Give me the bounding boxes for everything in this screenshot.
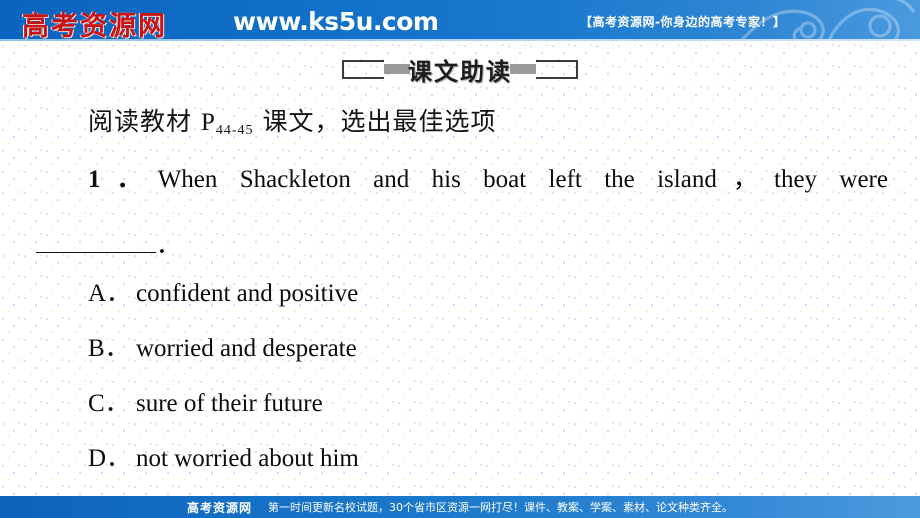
question-text: When Shackleton and his boat left the is… — [158, 166, 888, 193]
option-item-d[interactable]: D．not worried about him — [88, 442, 868, 497]
site-logo-url: www.ks5u.com — [233, 7, 438, 36]
option-label-d: D． — [88, 442, 136, 476]
option-label-c: C． — [88, 387, 136, 421]
section-title-text: 课文助读 — [406, 52, 514, 87]
option-text-a: confident and positive — [136, 280, 358, 307]
section-title-banner: 课文助读 — [0, 50, 920, 88]
option-label-b: B． — [88, 332, 136, 366]
bracket-left-icon — [342, 60, 384, 79]
option-list: A．confident and positive B．worried and d… — [88, 277, 868, 497]
site-tagline: 【高考资源网-你身边的高考专家！】 — [580, 13, 785, 30]
page-reference: P44-45 — [201, 109, 254, 136]
option-text-c: sure of their future — [136, 390, 323, 417]
site-header-banner: 高考资源网 www.ks5u.com 【高考资源网-你身边的高考专家！】 — [0, 0, 920, 41]
option-item-a[interactable]: A．confident and positive — [88, 277, 868, 332]
answer-blank-rule — [36, 235, 156, 253]
question-period: ． — [156, 232, 181, 259]
instruction-line: 阅读教材 P44-45 课文，选出最佳选项 — [88, 102, 496, 139]
header-underline-divider — [0, 39, 920, 41]
answer-blank-line: ． — [36, 225, 181, 261]
footer-brand: 高考资源网 — [187, 499, 252, 516]
option-item-c[interactable]: C．sure of their future — [88, 387, 868, 442]
option-item-b[interactable]: B．worried and desperate — [88, 332, 868, 387]
option-text-d: not worried about him — [136, 445, 359, 472]
site-logo-chinese: 高考资源网 — [22, 4, 167, 41]
site-footer-banner: 高考资源网 第一时间更新名校试题，30个省市区资源一网打尽！课件、教案、学案、素… — [0, 496, 920, 518]
page-range: 44-45 — [216, 123, 254, 138]
option-text-b: worried and desperate — [136, 335, 357, 362]
instruction-prefix: 阅读教材 — [88, 107, 201, 136]
instruction-suffix: 课文，选出最佳选项 — [254, 107, 497, 136]
option-label-a: A． — [88, 277, 136, 311]
slide-page: 高考资源网 www.ks5u.com 【高考资源网-你身边的高考专家！】 课文助… — [0, 0, 920, 518]
question-number: 1． — [88, 166, 158, 193]
question-stem: 1．When Shackleton and his boat left the … — [88, 163, 888, 197]
section-title-frame: 课文助读 — [342, 52, 578, 86]
page-label: P — [201, 109, 216, 136]
footer-slogan: 第一时间更新名校试题，30个省市区资源一网打尽！课件、教案、学案、素材、论文种类… — [268, 499, 733, 515]
bracket-right-icon — [536, 60, 578, 79]
